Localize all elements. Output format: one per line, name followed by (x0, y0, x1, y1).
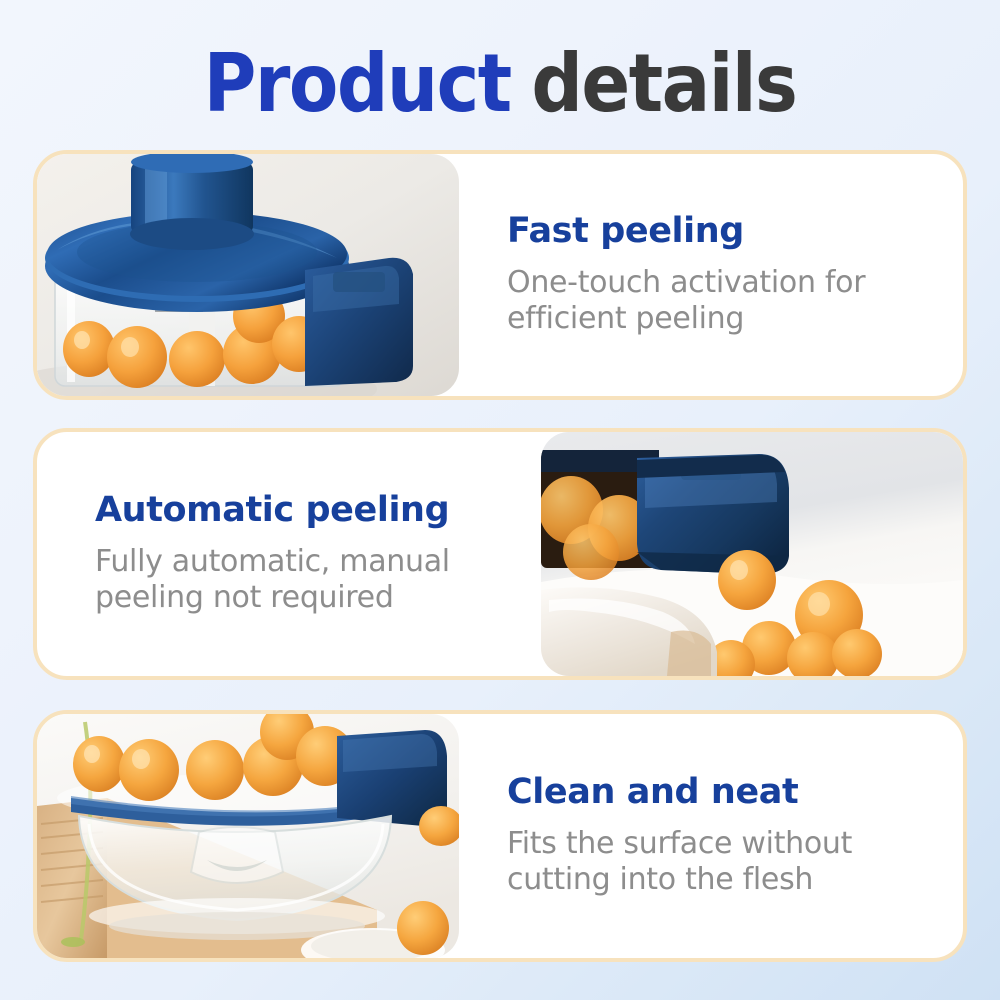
feature-description: One-touch activation for efficient peeli… (507, 265, 923, 338)
feature-card-automatic-peeling: Automatic peeling Fully automatic, manua… (33, 428, 967, 680)
feature-heading: Fast peeling (507, 212, 923, 251)
feature-heading: Clean and neat (507, 773, 923, 812)
feature-description: Fully automatic, manual peeling not requ… (95, 544, 511, 617)
feature-text-automatic-peeling: Automatic peeling Fully automatic, manua… (37, 432, 541, 676)
feature-description: Fits the surface without cutting into th… (507, 826, 923, 899)
page-title-accent: Product (204, 37, 511, 130)
page-title: Product details (0, 44, 1000, 124)
product-photo-glass-bowl (37, 714, 459, 958)
product-details-page: Product details (0, 0, 1000, 1000)
product-photo-appliance-chamber (37, 154, 459, 396)
feature-card-fast-peeling: Fast peeling One-touch activation for ef… (33, 150, 967, 400)
feature-image-fast-peeling (37, 154, 459, 396)
feature-heading: Automatic peeling (95, 491, 511, 530)
feature-text-clean-and-neat: Clean and neat Fits the surface without … (459, 714, 963, 958)
feature-image-automatic-peeling (541, 432, 963, 676)
feature-text-fast-peeling: Fast peeling One-touch activation for ef… (459, 154, 963, 396)
feature-card-clean-and-neat: Clean and neat Fits the surface without … (33, 710, 967, 962)
product-photo-dispensing-chute (541, 432, 963, 676)
feature-image-clean-and-neat (37, 714, 459, 958)
page-title-rest: details (531, 37, 796, 130)
